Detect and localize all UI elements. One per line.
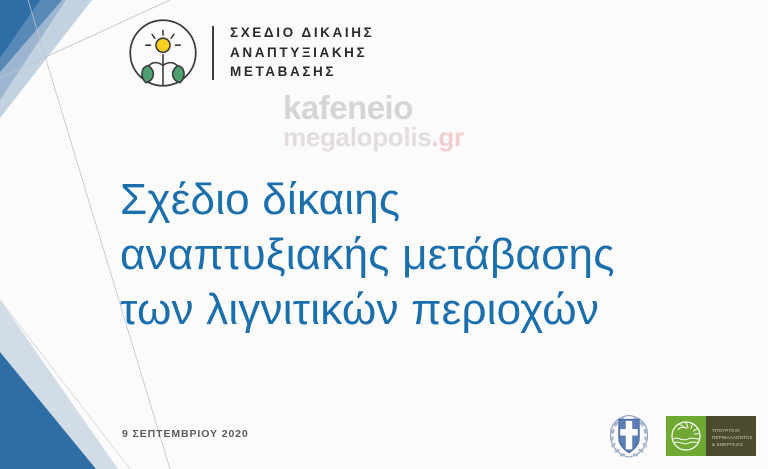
- leaf-right: [173, 65, 184, 82]
- brand-lockup: ΣΧΕΔΙΟ ΔΙΚΑΙΗΣ ΑΝΑΠΤΥΞΙΑΚΗΣ ΜΕΤΑΒΑΣΗΣ: [124, 14, 374, 92]
- presentation-title-slide: ΣΧΕΔΙΟ ΔΙΚΑΙΗΣ ΑΝΑΠΤΥΞΙΑΚΗΣ ΜΕΤΑΒΑΣΗΣ ka…: [0, 0, 768, 469]
- title-line-1: Σχέδιο δίκαιης: [120, 172, 720, 227]
- hellenic-republic-coat-of-arms-icon: [606, 412, 652, 460]
- ministry-text-line-2: ΠΕΡΙΒΑΛΛΟΝΤΟΣ: [712, 435, 753, 440]
- watermark-line-megalopolis: megalopolis.gr: [283, 124, 483, 150]
- brand-line-1: ΣΧΕΔΙΟ ΔΙΚΑΙΗΣ: [230, 25, 374, 41]
- watermark-domain-name: megalopolis: [283, 122, 431, 152]
- brand-divider: [212, 26, 214, 80]
- title-line-2: αναπτυξιακής μετάβασης: [120, 227, 720, 282]
- leaf-left: [142, 65, 153, 82]
- deco-top-light-band: [0, 0, 92, 118]
- sun-plant-circle-icon: [124, 14, 202, 92]
- ministry-of-environment-and-energy-logo: ΥΠΟΥΡΓΕΙΟ ΠΕΡΙΒΑΛΛΟΝΤΟΣ & ΕΝΕΡΓΕΙΑΣ: [666, 416, 756, 456]
- deco-hairline-lower: [0, 300, 130, 469]
- watermark-line-kafeneio: kafeneio: [283, 92, 483, 123]
- watermark-domain-tld: .gr: [431, 122, 463, 152]
- brand-text-block: ΣΧΕΔΙΟ ΔΙΚΑΙΗΣ ΑΝΑΠΤΥΞΙΑΚΗΣ ΜΕΤΑΒΑΣΗΣ: [230, 25, 374, 80]
- ministry-text-line-3: & ΕΝΕΡΓΕΙΑΣ: [712, 442, 743, 447]
- footer-emblems: ΥΠΟΥΡΓΕΙΟ ΠΕΡΙΒΑΛΛΟΝΤΟΣ & ΕΝΕΡΓΕΙΑΣ: [606, 412, 756, 460]
- deco-top-dark-wedge: [0, 0, 62, 72]
- page-title: Σχέδιο δίκαιης αναπτυξιακής μετάβασης τω…: [120, 172, 720, 338]
- title-line-3: των λιγνιτικών περιοχών: [120, 282, 720, 337]
- deco-bottom-light-band: [0, 300, 118, 469]
- slide-date: 9 ΣΕΠΤΕΜΒΡΙΟΥ 2020: [122, 428, 249, 440]
- brand-line-2: ΑΝΑΠΤΥΞΙΑΚΗΣ: [230, 45, 374, 61]
- ministry-text-line-1: ΥΠΟΥΡΓΕΙΟ: [712, 428, 740, 433]
- brand-line-3: ΜΕΤΑΒΑΣΗΣ: [230, 64, 374, 80]
- site-watermark: kafeneio megalopolis.gr: [283, 92, 483, 150]
- deco-bottom-dark-wedge: [0, 352, 96, 469]
- deco-top-mid-sliver: [0, 0, 66, 100]
